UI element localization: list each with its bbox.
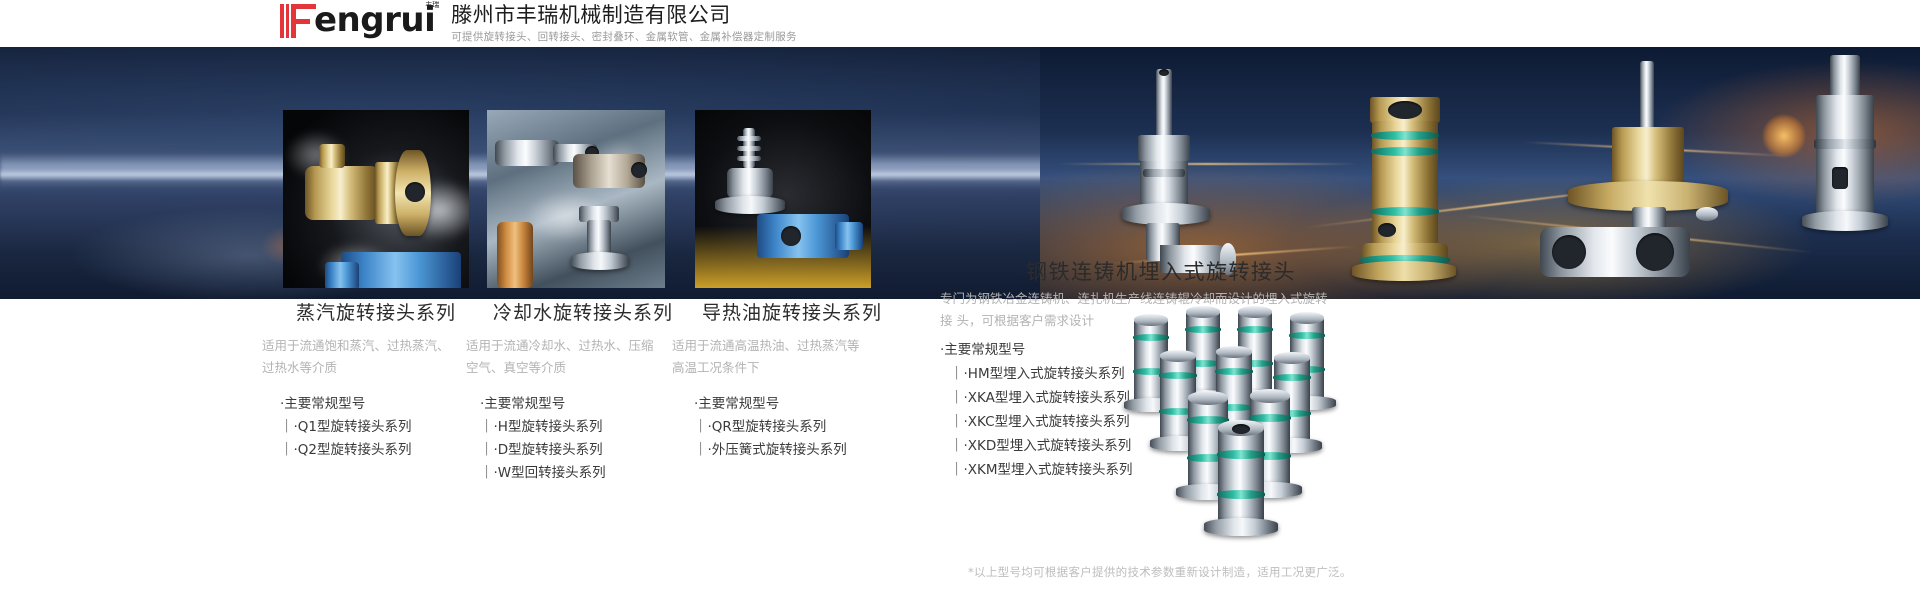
model-list-item[interactable]: ｜·H型旋转接头系列 [480,416,700,439]
logo-superscript-cn: 丰瑞 [425,0,439,10]
model-list-heading: ·主要常规型号 [940,338,1133,362]
right-panel-note: *以上型号均可根据客户提供的技术参数重新设计制造，适用工况更广泛。 [968,564,1352,580]
model-list-item[interactable]: ｜·XKM型埋入式旋转接头系列 [940,458,1133,482]
model-list-heading: ·主要常规型号 [480,393,700,416]
column-description: 适用于流通冷却水、过热水、压缩 空气、真空等介质 [466,335,700,379]
column-description: 适用于流通饱和蒸汽、过热蒸汽、 过热水等介质 [262,335,490,379]
logo-wordmark: engrui [314,0,435,40]
column-cooling-water: 冷却水旋转接头系列 适用于流通冷却水、过热水、压缩 空气、真空等介质 ·主要常规… [466,298,700,485]
embedded-rotary-joint-panel: 钢铁连铸机埋入式旋转接头 专门为钢铁冶金连铸机、连扎机生产线连铸辊冷却而设计的埋… [940,248,1900,600]
column-steam: 蒸汽旋转接头系列 适用于流通饱和蒸汽、过热蒸汽、 过热水等介质 ·主要常规型号 … [262,298,490,462]
column-title: 冷却水旋转接头系列 [466,298,700,325]
thumb-steam-rotary-joint[interactable] [283,110,469,288]
model-list-item[interactable]: ｜·XKD型埋入式旋转接头系列 [940,434,1133,458]
right-panel-model-list: ·主要常规型号 ｜·HM型埋入式旋转接头系列 ｜·XKA型埋入式旋转接头系列 ｜… [940,338,1133,482]
column-description: 适用于流通高温热油、过热蒸汽等 高温工况条件下 [672,335,912,379]
column-title: 导热油旋转接头系列 [672,298,912,325]
column-model-list: ·主要常规型号 ｜·QR型旋转接头系列 ｜·外压簧式旋转接头系列 [672,393,912,462]
column-desc-line1: 适用于流通高温热油、过热蒸汽等 [672,338,860,353]
model-list-item[interactable]: ｜·Q1型旋转接头系列 [280,416,490,439]
column-model-list: ·主要常规型号 ｜·H型旋转接头系列 ｜·D型旋转接头系列 ｜·W型回转接头系列 [466,393,700,485]
column-desc-line2: 高温工况条件下 [672,360,760,375]
model-list-heading: ·主要常规型号 [280,393,490,416]
fengrui-logo[interactable]: engrui 丰瑞 [278,0,435,40]
column-desc-line2: 空气、真空等介质 [466,360,566,375]
thumb-thermal-oil-rotary-joint[interactable] [695,110,871,288]
brand-block[interactable]: engrui 丰瑞 滕州市丰瑞机械制造有限公司 可提供旋转接头、回转接头、密封叠… [278,0,797,45]
company-name: 滕州市丰瑞机械制造有限公司 [451,2,797,28]
model-list-heading: ·主要常规型号 [694,393,912,416]
model-list-item[interactable]: ｜·外压簧式旋转接头系列 [694,439,912,462]
company-titles: 滕州市丰瑞机械制造有限公司 可提供旋转接头、回转接头、密封叠环、金属软管、金属补… [451,0,797,45]
column-title: 蒸汽旋转接头系列 [262,298,490,325]
thumb-cooling-water-rotary-joint[interactable] [487,110,665,288]
model-list-item[interactable]: ｜·Q2型旋转接头系列 [280,439,490,462]
embedded-joints-cluster-image[interactable] [1130,310,1380,510]
column-model-list: ·主要常规型号 ｜·Q1型旋转接头系列 ｜·Q2型旋转接头系列 [262,393,490,462]
column-thermal-oil: 导热油旋转接头系列 适用于流通高温热油、过热蒸汽等 高温工况条件下 ·主要常规型… [672,298,912,462]
site-header: engrui 丰瑞 滕州市丰瑞机械制造有限公司 可提供旋转接头、回转接头、密封叠… [0,0,1920,48]
model-list-item[interactable]: ｜·W型回转接头系列 [480,462,700,485]
right-panel-title: 钢铁连铸机埋入式旋转接头 [1026,256,1296,286]
column-desc-line1: 适用于流通饱和蒸汽、过热蒸汽、 [262,338,450,353]
model-list-item[interactable]: ｜·QR型旋转接头系列 [694,416,912,439]
column-desc-line1: 适用于流通冷却水、过热水、压缩 [466,338,654,353]
column-desc-line2: 过热水等介质 [262,360,337,375]
model-list-item[interactable]: ｜·XKA型埋入式旋转接头系列 [940,386,1133,410]
model-list-item[interactable]: ｜·HM型埋入式旋转接头系列 [940,362,1133,386]
logo-f-mark-icon [278,2,316,38]
model-list-item[interactable]: ｜·XKC型埋入式旋转接头系列 [940,410,1133,434]
company-subtitle: 可提供旋转接头、回转接头、密封叠环、金属软管、金属补偿器定制服务 [451,29,797,45]
right-desc-line2: 头，可根据客户需求设计 [957,313,1095,328]
model-list-item[interactable]: ｜·D型旋转接头系列 [480,439,700,462]
